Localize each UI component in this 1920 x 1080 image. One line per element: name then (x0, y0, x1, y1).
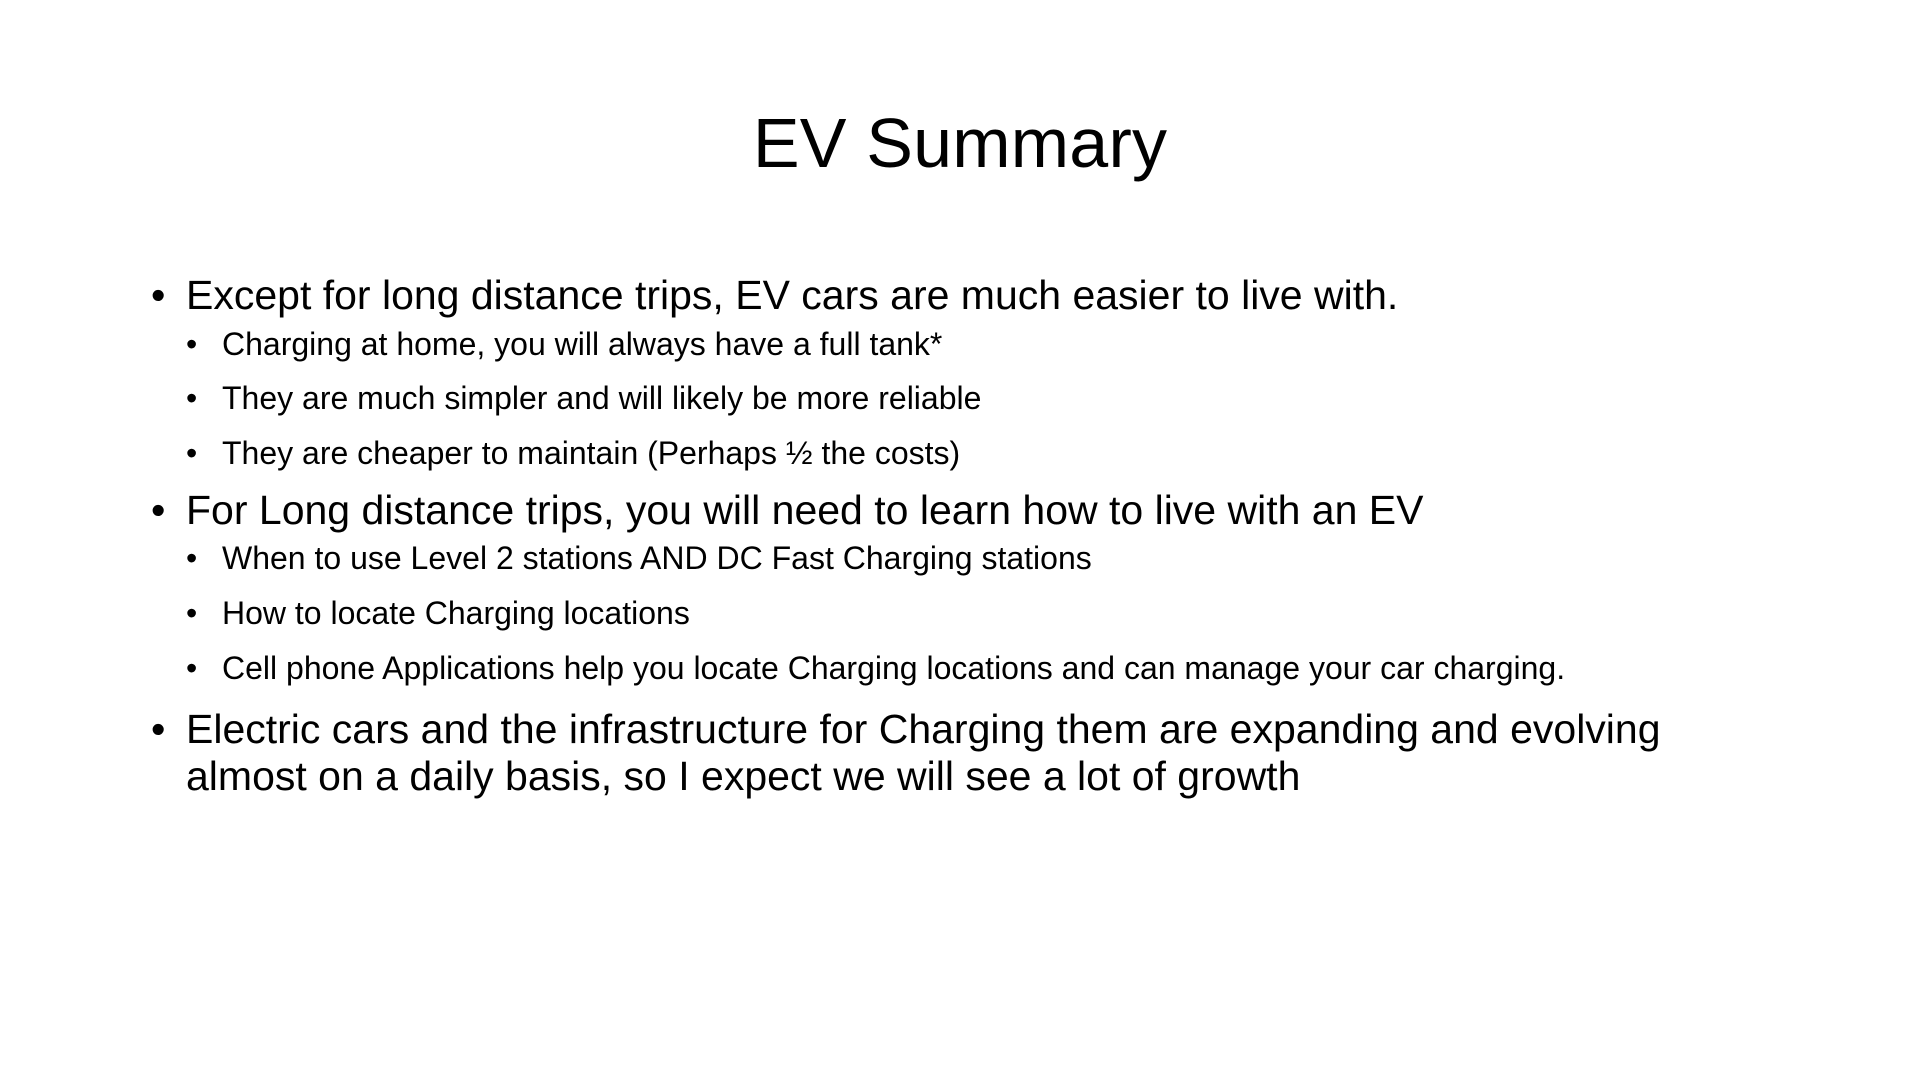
sub-bullet-marker-icon: • (186, 380, 206, 418)
slide-content-body: • Except for long distance trips, EV car… (150, 272, 1775, 803)
bullet-list: • Except for long distance trips, EV car… (150, 272, 1775, 801)
sub-bullet-marker-icon: • (186, 326, 206, 364)
bullet-level2: • Cell phone Applications help you locat… (185, 650, 1775, 688)
sub-bullet-list: • When to use Level 2 stations AND DC Fa… (150, 540, 1775, 687)
page-title: EV Summary (0, 103, 1920, 184)
bullet-level1-text: For Long distance trips, you will need t… (186, 487, 1775, 535)
bullet-level2: • When to use Level 2 stations AND DC Fa… (185, 540, 1775, 578)
bullet-group: • Electric cars and the infrastructure f… (150, 706, 1775, 801)
bullet-level2-text: Cell phone Applications help you locate … (222, 650, 1775, 688)
bullet-marker-icon: • (151, 272, 173, 320)
bullet-marker-icon: • (151, 487, 173, 535)
bullet-group: • For Long distance trips, you will need… (150, 487, 1775, 688)
bullet-level1-text: Electric cars and the infrastructure for… (186, 706, 1775, 801)
bullet-level1-text: Except for long distance trips, EV cars … (186, 272, 1775, 320)
bullet-level1: • For Long distance trips, you will need… (150, 487, 1775, 535)
sub-bullet-marker-icon: • (186, 650, 206, 688)
sub-bullet-marker-icon: • (186, 595, 206, 633)
bullet-group: • Except for long distance trips, EV car… (150, 272, 1775, 473)
bullet-level2-text: Charging at home, you will always have a… (222, 326, 1775, 364)
sub-bullet-marker-icon: • (186, 540, 206, 578)
bullet-level2-text: How to locate Charging locations (222, 595, 1775, 633)
sub-bullet-list: • Charging at home, you will always have… (150, 326, 1775, 473)
bullet-level2: • They are cheaper to maintain (Perhaps … (185, 435, 1775, 473)
bullet-level2: • Charging at home, you will always have… (185, 326, 1775, 364)
bullet-level2-text: They are much simpler and will likely be… (222, 380, 1775, 418)
bullet-level2-text: When to use Level 2 stations AND DC Fast… (222, 540, 1775, 578)
presentation-slide: EV Summary • Except for long distance tr… (0, 0, 1920, 1080)
sub-bullet-marker-icon: • (186, 435, 206, 473)
bullet-marker-icon: • (151, 706, 173, 754)
bullet-level1: • Except for long distance trips, EV car… (150, 272, 1775, 320)
bullet-level2-text: They are cheaper to maintain (Perhaps ½ … (222, 435, 1775, 473)
bullet-level1: • Electric cars and the infrastructure f… (150, 706, 1775, 801)
bullet-level2: • How to locate Charging locations (185, 595, 1775, 633)
bullet-level2: • They are much simpler and will likely … (185, 380, 1775, 418)
